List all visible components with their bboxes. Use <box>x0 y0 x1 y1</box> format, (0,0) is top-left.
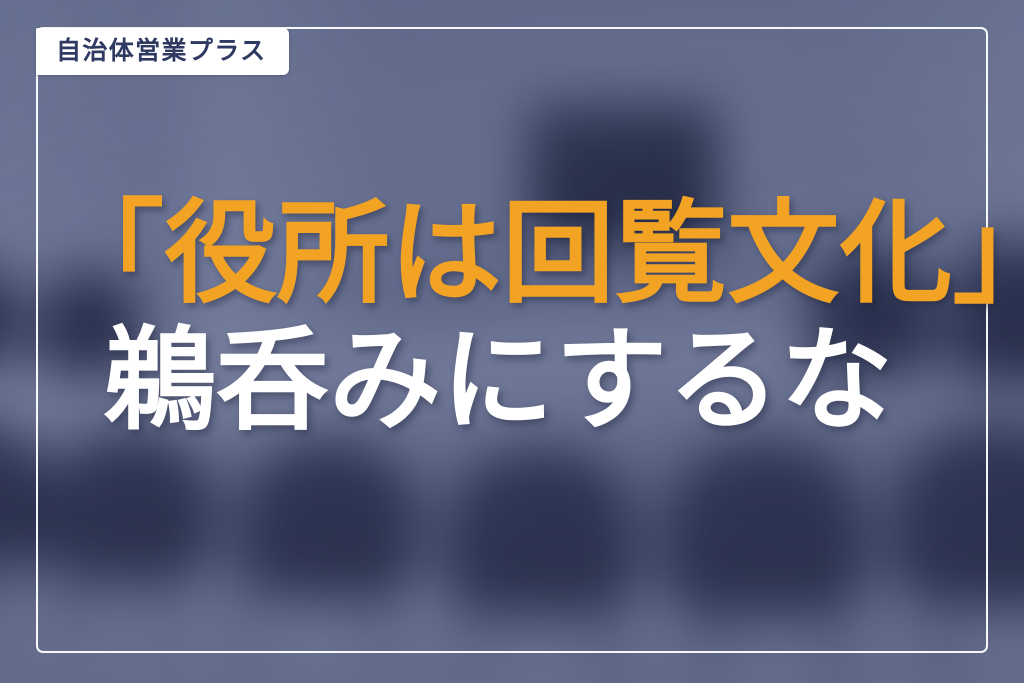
headline-line-2: 鵜呑みにするな <box>52 323 982 438</box>
brand-badge-label: 自治体営業プラス <box>56 39 267 64</box>
headline-line-1: 「役所は回覧文化」 <box>52 196 982 311</box>
headline-block: 「役所は回覧文化」 鵜呑みにするな <box>52 196 982 439</box>
thumbnail-canvas: 自治体営業プラス 「役所は回覧文化」 鵜呑みにするな <box>0 0 1024 683</box>
brand-badge: 自治体営業プラス <box>36 28 289 75</box>
